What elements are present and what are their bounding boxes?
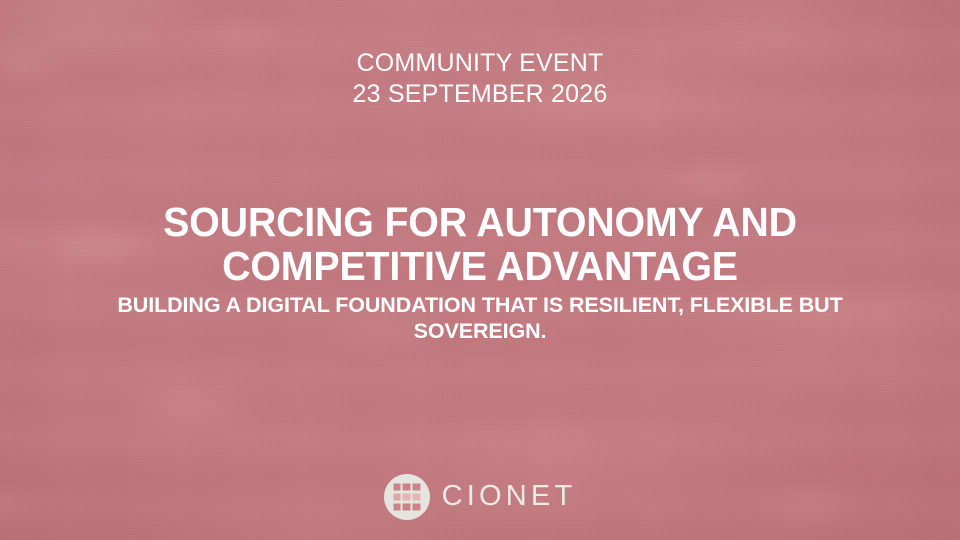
slide-subtitle: BUILDING A DIGITAL FOUNDATION THAT IS RE…	[70, 292, 890, 344]
logo-cell	[393, 493, 400, 500]
slide-title: SOURCING FOR AUTONOMY AND COMPETITIVE AD…	[0, 200, 960, 288]
logo-cell	[403, 503, 410, 510]
slide-content: COMMUNITY EVENT 23 SEPTEMBER 2026 SOURCI…	[0, 0, 960, 540]
title-line-2: COMPETITIVE ADVANTAGE	[19, 244, 941, 288]
cionet-grid-circle-icon	[384, 474, 430, 520]
logo-cell	[403, 493, 410, 500]
event-slide: COMMUNITY EVENT 23 SEPTEMBER 2026 SOURCI…	[0, 0, 960, 540]
event-header-line2: 23 SEPTEMBER 2026	[0, 79, 960, 110]
logo-grid	[393, 484, 420, 511]
logo-cell	[393, 484, 400, 491]
logo-cell	[413, 503, 420, 510]
cionet-wordmark: CIONET	[442, 482, 577, 512]
logo-cell	[403, 484, 410, 491]
cionet-logo: CIONET	[0, 474, 960, 520]
title-line-1: SOURCING FOR AUTONOMY AND	[19, 200, 941, 244]
event-header-line1: COMMUNITY EVENT	[0, 48, 960, 79]
logo-cell	[413, 484, 420, 491]
event-header: COMMUNITY EVENT 23 SEPTEMBER 2026	[0, 48, 960, 110]
logo-cell	[393, 503, 400, 510]
logo-cell	[413, 493, 420, 500]
